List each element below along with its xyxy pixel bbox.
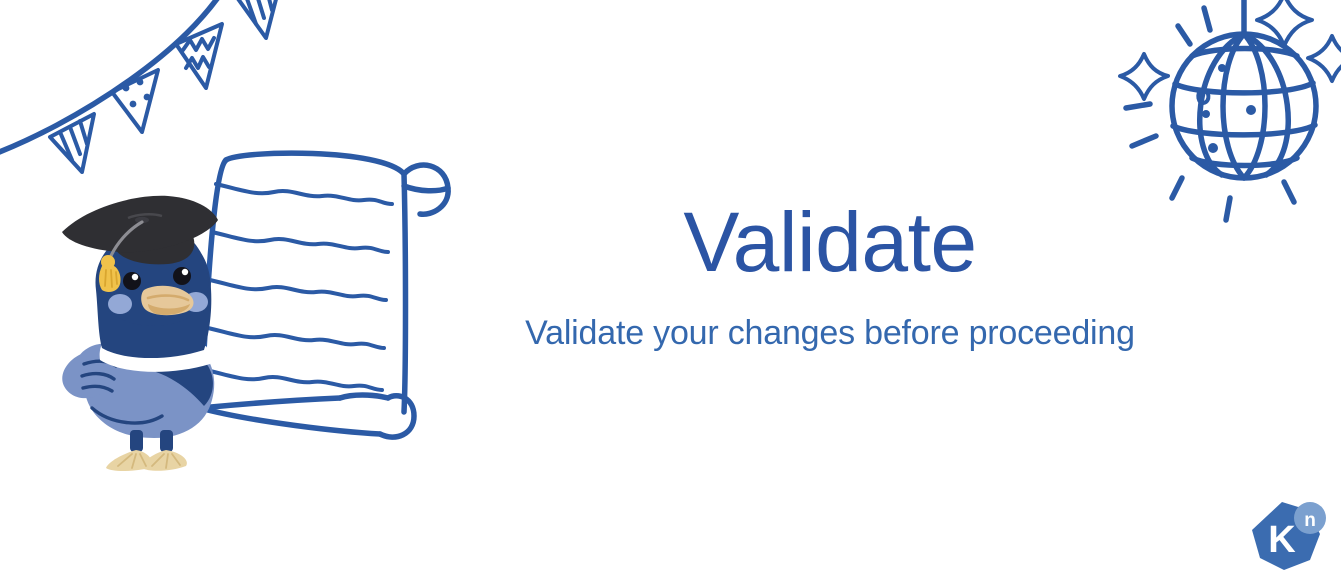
graduate-bird-mascot: [56, 186, 238, 474]
page-title: Validate: [460, 198, 1200, 287]
party-bunting-icon: [0, 0, 320, 167]
slide-canvas: Validate Validate your changes before pr…: [0, 0, 1341, 585]
logo-mark-letter: K: [1268, 519, 1296, 561]
certificate-scroll-icon: [182, 140, 462, 452]
kubernetes-n-logo[interactable]: K n: [1248, 498, 1332, 578]
disco-ball-icon: [1118, 0, 1341, 226]
page-subtitle: Validate your changes before proceeding: [460, 313, 1200, 354]
hero-text-block: Validate Validate your changes before pr…: [460, 198, 1200, 354]
logo-badge-letter: n: [1304, 510, 1316, 531]
